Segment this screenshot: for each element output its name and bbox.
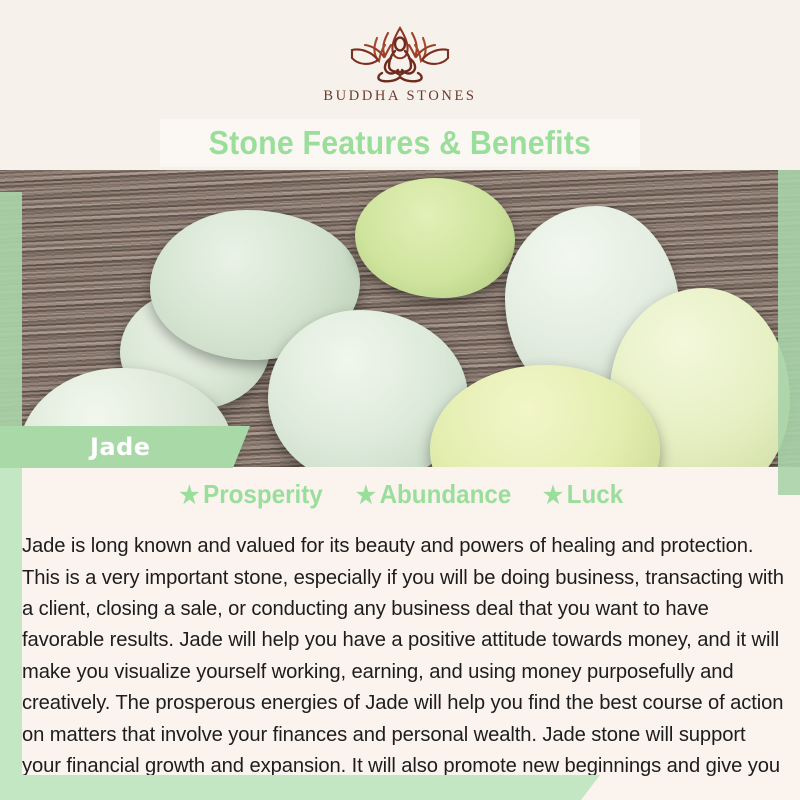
decorative-green-bar-bottom — [0, 775, 600, 800]
description-text: Jade is long known and valued for its be… — [22, 531, 788, 800]
title-banner: Stone Features & Benefits — [160, 119, 640, 167]
benefits-row: ★Prosperity ★Abundance ★Luck — [0, 479, 800, 510]
decorative-green-bar-left-lower — [0, 467, 22, 775]
brand-name: BUDDHA STONES — [0, 88, 800, 105]
stone-info-poster: BUDDHA STONES Stone Features & Benefits … — [0, 0, 800, 800]
star-icon: ★ — [543, 482, 563, 509]
lotus-meditation-icon — [325, 22, 475, 84]
description-section: ★Prosperity ★Abundance ★Luck Jade is lon… — [0, 467, 800, 800]
brand-logo: BUDDHA STONES — [0, 22, 800, 105]
star-icon: ★ — [356, 482, 376, 509]
benefit-label: Luck — [567, 479, 623, 509]
benefit-item-prosperity: ★Prosperity — [179, 479, 322, 510]
page-title: Stone Features & Benefits — [209, 124, 592, 162]
stone-name-band: Jade — [0, 426, 250, 468]
stone-name-label: Jade — [90, 433, 151, 461]
benefit-label: Prosperity — [203, 479, 323, 509]
benefit-label: Abundance — [380, 479, 512, 509]
star-icon: ★ — [179, 482, 199, 509]
jade-stones-photo — [0, 170, 800, 467]
benefit-item-luck: ★Luck — [543, 479, 623, 510]
decorative-green-bar-right — [778, 150, 800, 495]
benefit-item-abundance: ★Abundance — [356, 479, 511, 510]
